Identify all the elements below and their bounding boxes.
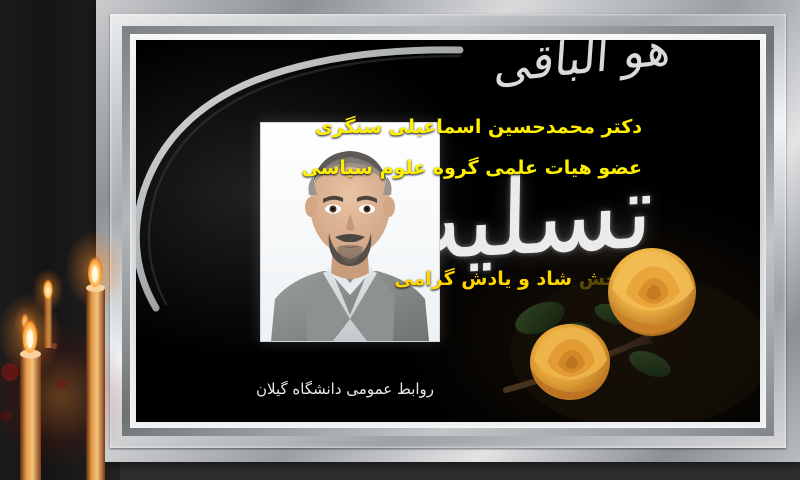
deceased-title: عضو هیات علمی گروه علوم سیاسی (302, 159, 643, 178)
memorial-poster: تسلیت (0, 0, 800, 480)
canvas-vignette-glow (136, 40, 760, 422)
deceased-info-block: دکتر محمدحسین اسماعیلی سنگری عضو هیات عل… (302, 118, 643, 178)
poster-canvas: تسلیت (136, 40, 760, 422)
deceased-name: دکتر محمدحسین اسماعیلی سنگری (302, 118, 643, 137)
signature-public-relations: روابط عمومی دانشگاه گیلان (256, 380, 434, 398)
tribute-message: روحش شاد و یادش گرامی (394, 268, 642, 290)
silver-picture-frame: تسلیت (96, 0, 800, 462)
